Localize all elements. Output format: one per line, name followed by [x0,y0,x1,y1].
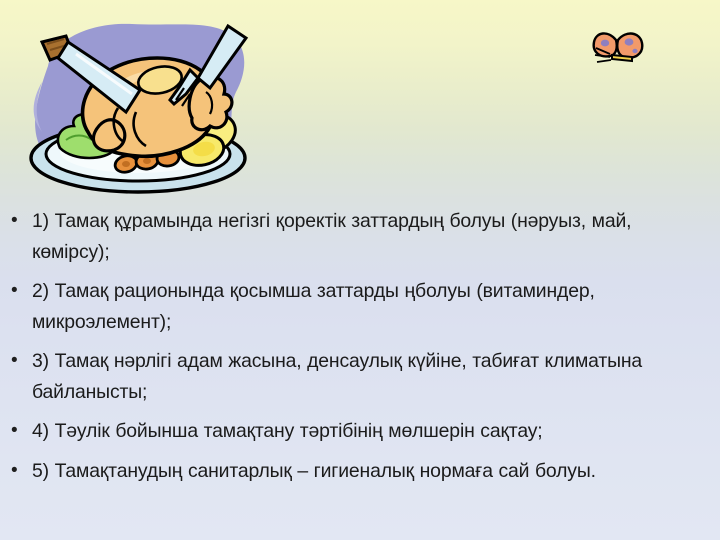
list-item-text: 4) Тәулік бойынша тамақтану тәртібінің м… [32,416,718,447]
list-item-text: 2) Тамақ рационында қосымша заттарды ңбо… [32,276,718,337]
list-item-text: 3) Тамақ нәрлігі адам жасына, денсаулық … [32,346,718,407]
list-item: • 1) Тамақ құрамында негізгі қоректік за… [0,206,718,267]
butterfly-icon [594,33,643,62]
list-item-text: 5) Тамақтанудың санитарлық – гигиеналық … [32,456,718,487]
list-item-text: 1) Тамақ құрамында негізгі қоректік затт… [32,206,718,267]
roast-turkey-clipart [14,8,264,203]
bullet-list: • 1) Тамақ құрамында негізгі қоректік за… [0,206,718,495]
bullet-marker: • [8,206,32,237]
list-item: • 2) Тамақ рационында қосымша заттарды ң… [0,276,718,337]
bullet-marker: • [8,346,32,377]
presentation-slide: • 1) Тамақ құрамында негізгі қоректік за… [0,0,720,540]
bullet-marker: • [8,416,32,447]
list-item: • 5) Тамақтанудың санитарлық – гигиеналы… [0,456,718,487]
butterfly-clipart [588,24,650,74]
bullet-marker: • [8,456,32,487]
bullet-marker: • [8,276,32,307]
list-item: • 4) Тәулік бойынша тамақтану тәртібінің… [0,416,718,447]
list-item: • 3) Тамақ нәрлігі адам жасына, денсаулы… [0,346,718,407]
